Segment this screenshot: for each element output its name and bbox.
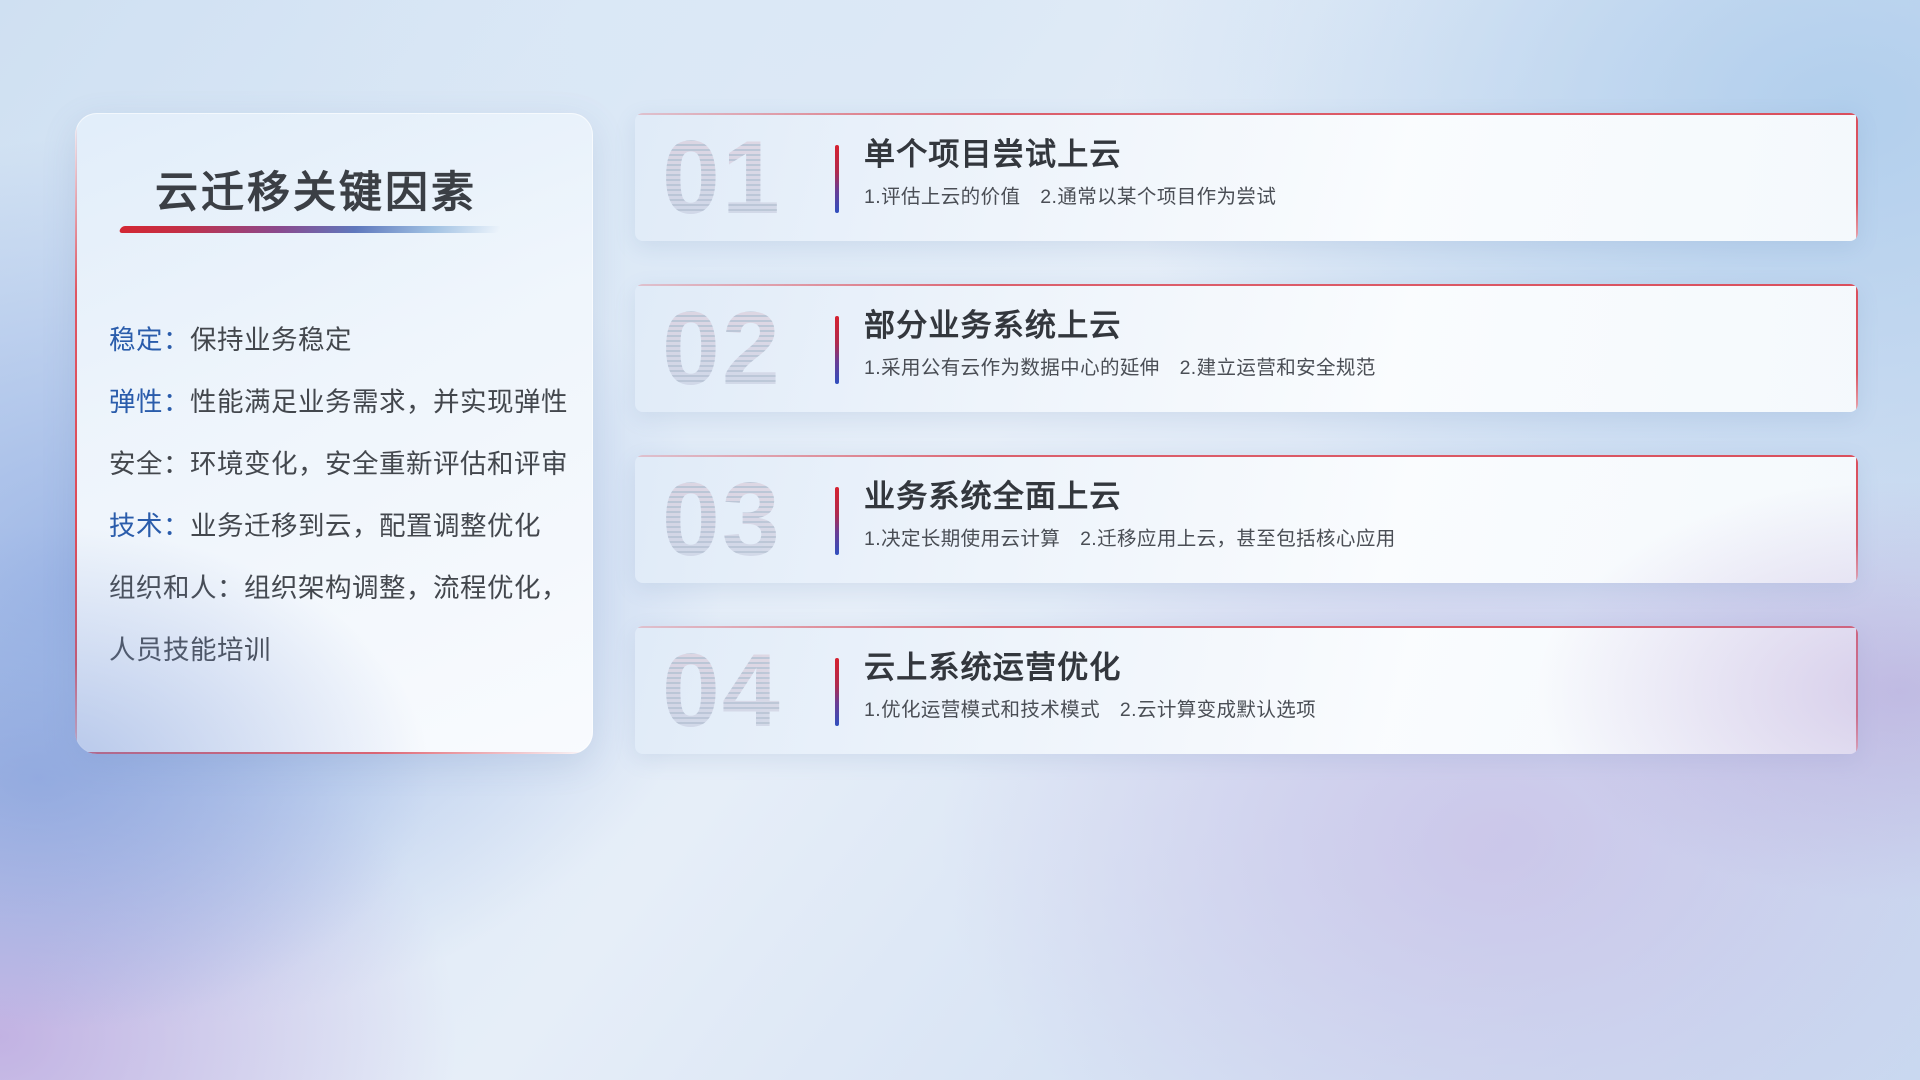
factor-row: 人员技能培训 (109, 619, 573, 681)
factor-description: 人员技能培训 (109, 635, 271, 665)
factor-label: 稳定： (109, 325, 190, 355)
step-accent-bar (835, 316, 839, 384)
key-factors-panel: 云迁移关键因素 稳定：保持业务稳定弹性：性能满足业务需求，并实现弹性安全：环境变… (75, 113, 593, 754)
factor-row: 稳定：保持业务稳定 (109, 309, 573, 371)
factor-row: 安全：环境变化，安全重新评估和评审 (109, 433, 573, 495)
step-subtitle: 1.决定长期使用云计算 2.迁移应用上云，甚至包括核心应用 (864, 522, 1834, 556)
step-number-watermark: 04 (662, 632, 837, 750)
factor-label: 弹性： (109, 387, 190, 417)
step-subtitle: 1.评估上云的价值 2.通常以某个项目作为尝试 (864, 180, 1834, 214)
step-title: 业务系统全面上云 (864, 475, 1834, 519)
slide-canvas: 云迁移关键因素 稳定：保持业务稳定弹性：性能满足业务需求，并实现弹性安全：环境变… (0, 0, 1920, 1080)
step-card[interactable]: 03业务系统全面上云1.决定长期使用云计算 2.迁移应用上云，甚至包括核心应用 (635, 455, 1858, 583)
step-card[interactable]: 04云上系统运营优化1.优化运营模式和技术模式 2.云计算变成默认选项 (635, 626, 1858, 754)
step-number-watermark: 02 (662, 290, 837, 408)
factor-row: 组织和人：组织架构调整，流程优化， (109, 557, 573, 619)
key-factors-list: 稳定：保持业务稳定弹性：性能满足业务需求，并实现弹性安全：环境变化，安全重新评估… (109, 309, 573, 681)
factor-label: 技术： (109, 511, 190, 541)
step-title: 单个项目尝试上云 (864, 133, 1834, 177)
factor-description: 环境变化，安全重新评估和评审 (190, 449, 568, 479)
step-text-block: 单个项目尝试上云1.评估上云的价值 2.通常以某个项目作为尝试 (864, 133, 1834, 214)
step-title: 云上系统运营优化 (864, 646, 1834, 690)
factor-description: 性能满足业务需求，并实现弹性 (190, 387, 568, 417)
factor-description: 组织架构调整，流程优化， (244, 573, 568, 603)
factor-row: 弹性：性能满足业务需求，并实现弹性 (109, 371, 573, 433)
step-text-block: 部分业务系统上云1.采用公有云作为数据中心的延伸 2.建立运营和安全规范 (864, 304, 1834, 385)
title-underline-accent (118, 226, 501, 233)
step-number-watermark: 01 (662, 119, 837, 237)
step-number-watermark: 03 (662, 461, 837, 579)
step-text-block: 业务系统全面上云1.决定长期使用云计算 2.迁移应用上云，甚至包括核心应用 (864, 475, 1834, 556)
step-accent-bar (835, 145, 839, 213)
migration-steps-list: 01单个项目尝试上云1.评估上云的价值 2.通常以某个项目作为尝试02部分业务系… (635, 113, 1858, 797)
step-text-block: 云上系统运营优化1.优化运营模式和技术模式 2.云计算变成默认选项 (864, 646, 1834, 727)
step-accent-bar (835, 487, 839, 555)
factor-row: 技术：业务迁移到云，配置调整优化 (109, 495, 573, 557)
step-card[interactable]: 01单个项目尝试上云1.评估上云的价值 2.通常以某个项目作为尝试 (635, 113, 1858, 241)
factor-label: 组织和人： (109, 573, 244, 603)
step-subtitle: 1.采用公有云作为数据中心的延伸 2.建立运营和安全规范 (864, 351, 1834, 385)
step-title: 部分业务系统上云 (864, 304, 1834, 348)
factor-description: 业务迁移到云，配置调整优化 (190, 511, 541, 541)
page-title: 云迁移关键因素 (155, 158, 477, 220)
step-card[interactable]: 02部分业务系统上云1.采用公有云作为数据中心的延伸 2.建立运营和安全规范 (635, 284, 1858, 412)
factor-description: 保持业务稳定 (190, 325, 352, 355)
step-subtitle: 1.优化运营模式和技术模式 2.云计算变成默认选项 (864, 693, 1834, 727)
factor-label: 安全： (109, 449, 190, 479)
step-accent-bar (835, 658, 839, 726)
